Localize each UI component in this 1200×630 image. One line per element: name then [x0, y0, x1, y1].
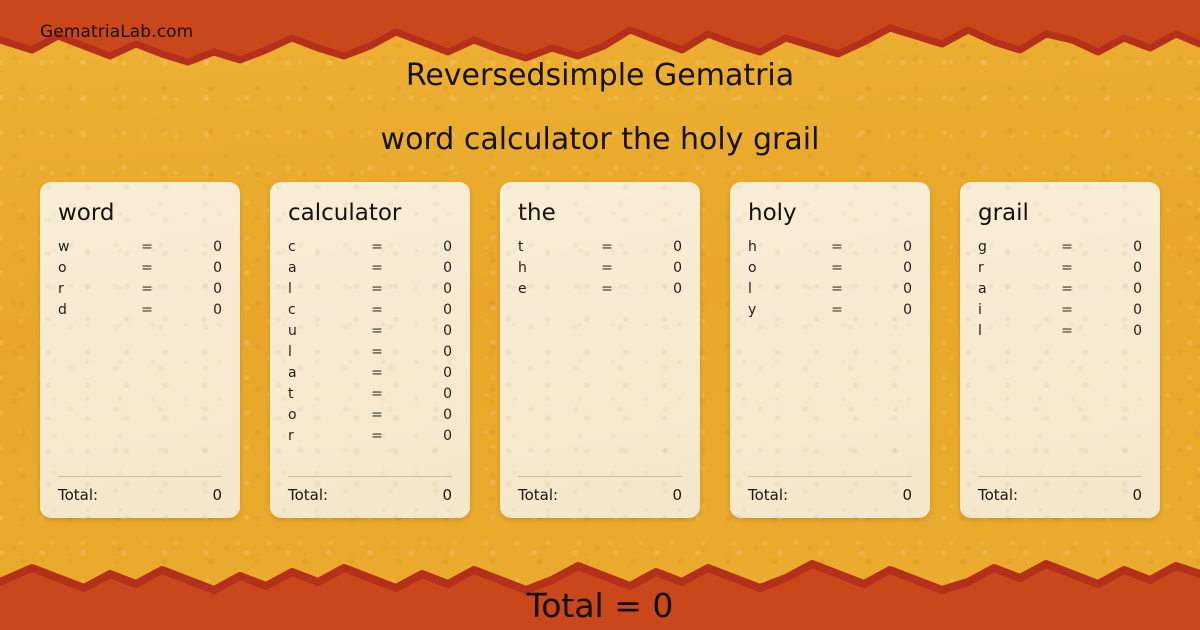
letter-label: r — [288, 428, 360, 444]
letter-label: a — [288, 260, 360, 276]
letter-value: 0 — [164, 281, 222, 297]
word-card: holyh=0o=0l=0y=0Total:0 — [730, 182, 930, 518]
equals-sign: = — [1050, 323, 1084, 339]
letter-value: 0 — [854, 281, 912, 297]
letter-value: 0 — [394, 407, 452, 423]
equals-sign: = — [130, 239, 164, 255]
letter-row: c=0 — [288, 299, 452, 320]
gematria-result-poster: GematriaLab.com Reversedsimple Gematria … — [0, 0, 1200, 630]
word-card-title: calculator — [288, 200, 452, 226]
letter-row: l=0 — [288, 341, 452, 362]
equals-sign: = — [820, 239, 854, 255]
letter-row: o=0 — [58, 257, 222, 278]
equals-sign: = — [590, 239, 624, 255]
letter-row: d=0 — [58, 299, 222, 320]
card-total-label: Total: — [978, 486, 1018, 504]
letter-label: l — [288, 281, 360, 297]
letter-value: 0 — [854, 302, 912, 318]
equals-sign: = — [1050, 281, 1084, 297]
card-total-value: 0 — [328, 486, 452, 504]
equals-sign: = — [360, 344, 394, 360]
letter-label: y — [748, 302, 820, 318]
letter-value: 0 — [394, 239, 452, 255]
equals-sign: = — [590, 260, 624, 276]
letter-value: 0 — [164, 239, 222, 255]
card-total-row: Total:0 — [748, 486, 912, 504]
letter-label: r — [978, 260, 1050, 276]
letter-row: g=0 — [978, 236, 1142, 257]
letter-rows: c=0a=0l=0c=0u=0l=0a=0t=0o=0r=0 — [288, 236, 452, 468]
letter-label: w — [58, 239, 130, 255]
letter-label: g — [978, 239, 1050, 255]
letter-value: 0 — [624, 260, 682, 276]
letter-label: a — [288, 365, 360, 381]
letter-row: h=0 — [748, 236, 912, 257]
letter-row: l=0 — [978, 320, 1142, 341]
word-card: wordw=0o=0r=0d=0Total:0 — [40, 182, 240, 518]
letter-label: l — [288, 344, 360, 360]
letter-value: 0 — [624, 281, 682, 297]
letter-value: 0 — [394, 428, 452, 444]
equals-sign: = — [360, 239, 394, 255]
letter-rows: t=0h=0e=0 — [518, 236, 682, 468]
letter-label: h — [748, 239, 820, 255]
letter-value: 0 — [1084, 239, 1142, 255]
equals-sign: = — [820, 302, 854, 318]
letter-value: 0 — [394, 302, 452, 318]
letter-value: 0 — [854, 239, 912, 255]
letter-label: d — [58, 302, 130, 318]
card-total-row: Total:0 — [978, 486, 1142, 504]
card-total-value: 0 — [1018, 486, 1142, 504]
letter-label: t — [518, 239, 590, 255]
equals-sign: = — [360, 407, 394, 423]
letter-row: t=0 — [288, 383, 452, 404]
letter-row: r=0 — [58, 278, 222, 299]
equals-sign: = — [130, 281, 164, 297]
letter-value: 0 — [164, 260, 222, 276]
card-total-value: 0 — [788, 486, 912, 504]
letter-row: w=0 — [58, 236, 222, 257]
letter-value: 0 — [1084, 260, 1142, 276]
letter-value: 0 — [394, 386, 452, 402]
letter-label: t — [288, 386, 360, 402]
equals-sign: = — [130, 302, 164, 318]
site-logo[interactable]: GematriaLab.com — [40, 22, 193, 42]
equals-sign: = — [1050, 239, 1084, 255]
letter-label: o — [748, 260, 820, 276]
equals-sign: = — [360, 260, 394, 276]
card-divider — [288, 476, 452, 477]
word-cards-container: wordw=0o=0r=0d=0Total:0calculatorc=0a=0l… — [40, 182, 1160, 518]
equals-sign: = — [820, 260, 854, 276]
letter-row: a=0 — [288, 362, 452, 383]
equals-sign: = — [360, 302, 394, 318]
letter-label: c — [288, 302, 360, 318]
equals-sign: = — [590, 281, 624, 297]
equals-sign: = — [360, 386, 394, 402]
word-card: grailg=0r=0a=0i=0l=0Total:0 — [960, 182, 1160, 518]
card-total-label: Total: — [748, 486, 788, 504]
letter-value: 0 — [394, 344, 452, 360]
page-title: Reversedsimple Gematria — [0, 58, 1200, 93]
letter-row: y=0 — [748, 299, 912, 320]
equals-sign: = — [1050, 302, 1084, 318]
card-total-label: Total: — [288, 486, 328, 504]
card-divider — [518, 476, 682, 477]
letter-value: 0 — [164, 302, 222, 318]
letter-row: r=0 — [978, 257, 1142, 278]
letter-value: 0 — [624, 239, 682, 255]
letter-row: a=0 — [288, 257, 452, 278]
letter-value: 0 — [1084, 302, 1142, 318]
word-card-title: the — [518, 200, 682, 226]
card-total-row: Total:0 — [288, 486, 452, 504]
equals-sign: = — [1050, 260, 1084, 276]
card-divider — [58, 476, 222, 477]
letter-rows: g=0r=0a=0i=0l=0 — [978, 236, 1142, 468]
card-divider — [978, 476, 1142, 477]
letter-value: 0 — [394, 323, 452, 339]
letter-value: 0 — [394, 365, 452, 381]
letter-label: o — [288, 407, 360, 423]
letter-rows: h=0o=0l=0y=0 — [748, 236, 912, 468]
letter-value: 0 — [394, 260, 452, 276]
card-total-row: Total:0 — [58, 486, 222, 504]
word-card: thet=0h=0e=0Total:0 — [500, 182, 700, 518]
word-card: calculatorc=0a=0l=0c=0u=0l=0a=0t=0o=0r=0… — [270, 182, 470, 518]
letter-label: a — [978, 281, 1050, 297]
card-total-value: 0 — [98, 486, 222, 504]
letter-row: l=0 — [288, 278, 452, 299]
letter-value: 0 — [1084, 323, 1142, 339]
letter-value: 0 — [1084, 281, 1142, 297]
letter-label: l — [978, 323, 1050, 339]
letter-row: a=0 — [978, 278, 1142, 299]
letter-row: u=0 — [288, 320, 452, 341]
letter-row: i=0 — [978, 299, 1142, 320]
card-total-label: Total: — [58, 486, 98, 504]
letter-value: 0 — [394, 281, 452, 297]
letter-label: l — [748, 281, 820, 297]
equals-sign: = — [130, 260, 164, 276]
equals-sign: = — [360, 323, 394, 339]
word-card-title: holy — [748, 200, 912, 226]
letter-label: o — [58, 260, 130, 276]
letter-label: c — [288, 239, 360, 255]
letter-row: r=0 — [288, 425, 452, 446]
letter-row: c=0 — [288, 236, 452, 257]
equals-sign: = — [360, 365, 394, 381]
letter-row: o=0 — [288, 404, 452, 425]
grand-total: Total = 0 — [0, 586, 1200, 625]
letter-label: u — [288, 323, 360, 339]
equals-sign: = — [820, 281, 854, 297]
card-divider — [748, 476, 912, 477]
letter-label: r — [58, 281, 130, 297]
letter-value: 0 — [854, 260, 912, 276]
letter-rows: w=0o=0r=0d=0 — [58, 236, 222, 468]
letter-row: t=0 — [518, 236, 682, 257]
letter-label: e — [518, 281, 590, 297]
word-card-title: word — [58, 200, 222, 226]
letter-row: h=0 — [518, 257, 682, 278]
letter-label: h — [518, 260, 590, 276]
page-subtitle: word calculator the holy grail — [0, 122, 1200, 157]
card-total-row: Total:0 — [518, 486, 682, 504]
equals-sign: = — [360, 428, 394, 444]
letter-row: o=0 — [748, 257, 912, 278]
card-total-value: 0 — [558, 486, 682, 504]
word-card-title: grail — [978, 200, 1142, 226]
letter-row: e=0 — [518, 278, 682, 299]
equals-sign: = — [360, 281, 394, 297]
letter-label: i — [978, 302, 1050, 318]
letter-row: l=0 — [748, 278, 912, 299]
card-total-label: Total: — [518, 486, 558, 504]
